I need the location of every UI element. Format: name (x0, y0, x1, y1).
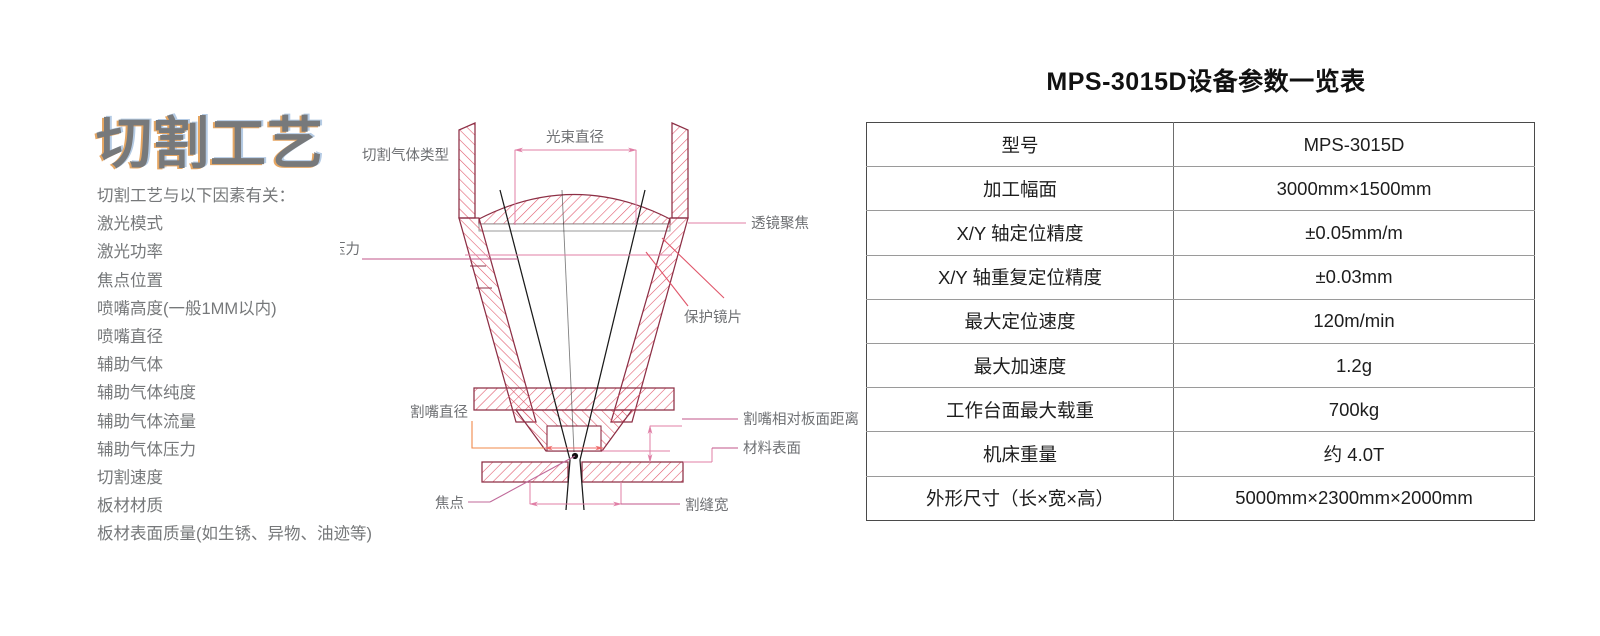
label-assist-gas-pressure: 辅助气体压力 (340, 241, 360, 258)
laser-cutting-head-diagram: 光束直径 切割气体类型 透镜聚焦 辅助气体压力 保护镜片 割嘴直径 割嘴相对板面… (340, 70, 860, 530)
spec-value: 120m/min (1174, 299, 1535, 343)
spec-value: 700kg (1174, 388, 1535, 432)
page-title: 切割工艺 (96, 99, 324, 180)
diagram-svg: 光束直径 切割气体类型 透镜聚焦 辅助气体压力 保护镜片 割嘴直径 割嘴相对板面… (340, 70, 860, 530)
table-row: 最大加速度 1.2g (867, 343, 1535, 387)
kerf-width-dimension: 割缝宽 (530, 482, 729, 514)
table-row: 最大定位速度 120m/min (867, 299, 1535, 343)
spec-value: ±0.05mm/m (1174, 211, 1535, 255)
focusing-lens (479, 195, 670, 232)
table-row: 机床重量 约 4.0T (867, 432, 1535, 476)
label-protective-lens: 保护镜片 (684, 308, 742, 326)
spec-name: 加工幅面 (867, 167, 1174, 211)
label-nozzle-diameter: 割嘴直径 (410, 404, 468, 421)
spec-value: MPS-3015D (1174, 123, 1535, 167)
cutting-gas-type-label: 切割气体类型 (362, 147, 449, 164)
table-row: X/Y 轴重复定位精度 ±0.03mm (867, 255, 1535, 299)
spec-table-title: MPS-3015D设备参数一览表 (866, 62, 1518, 98)
label-material-surface: 材料表面 (743, 440, 801, 457)
spec-name: 工作台面最大载重 (867, 388, 1174, 432)
table-row: 外形尺寸（长×宽×高） 5000mm×2300mm×2000mm (867, 476, 1535, 520)
label-kerf-width: 割缝宽 (685, 497, 729, 514)
table-row: X/Y 轴定位精度 ±0.05mm/m (867, 211, 1535, 255)
label-cutting-gas-type: 切割气体类型 (362, 147, 449, 164)
label-lens-focus: 透镜聚焦 (751, 214, 809, 232)
spec-value: 1.2g (1174, 343, 1535, 387)
spec-panel: MPS-3015D设备参数一览表 型号 MPS-3015D 加工幅面 3000m… (866, 62, 1518, 521)
label-focal-point: 焦点 (435, 495, 464, 512)
assist-gas-pressure-callout: 辅助气体压力 (340, 241, 672, 259)
lens-focus-callout: 透镜聚焦 (688, 214, 809, 232)
spec-name: 机床重量 (867, 432, 1174, 476)
spec-name: 型号 (867, 123, 1174, 167)
spec-name: 外形尺寸（长×宽×高） (867, 476, 1174, 520)
workpiece-material (482, 462, 683, 482)
spec-name: X/Y 轴重复定位精度 (867, 255, 1174, 299)
cutting-process-section: 切割工艺 切割工艺与以下因素有关： 激光模式 激光功率 焦点位置 喷嘴高度(一般… (0, 0, 380, 636)
spec-table: 型号 MPS-3015D 加工幅面 3000mm×1500mm X/Y 轴定位精… (866, 122, 1535, 521)
material-surface-callout: 材料表面 (683, 440, 801, 462)
nozzle-flange (474, 388, 674, 410)
spec-name: X/Y 轴定位精度 (867, 211, 1174, 255)
spec-value: 3000mm×1500mm (1174, 167, 1535, 211)
label-beam-diameter: 光束直径 (546, 129, 604, 146)
spec-name: 最大定位速度 (867, 299, 1174, 343)
table-row: 加工幅面 3000mm×1500mm (867, 167, 1535, 211)
spec-value: ±0.03mm (1174, 255, 1535, 299)
table-row: 工作台面最大载重 700kg (867, 388, 1535, 432)
nozzle-plate-distance-dimension: 割嘴相对板面距离 (602, 410, 859, 462)
table-row: 型号 MPS-3015D (867, 123, 1535, 167)
spec-name: 最大加速度 (867, 343, 1174, 387)
label-nozzle-plate-distance: 割嘴相对板面距离 (743, 410, 859, 428)
spec-value: 5000mm×2300mm×2000mm (1174, 476, 1535, 520)
spec-value: 约 4.0T (1174, 432, 1535, 476)
